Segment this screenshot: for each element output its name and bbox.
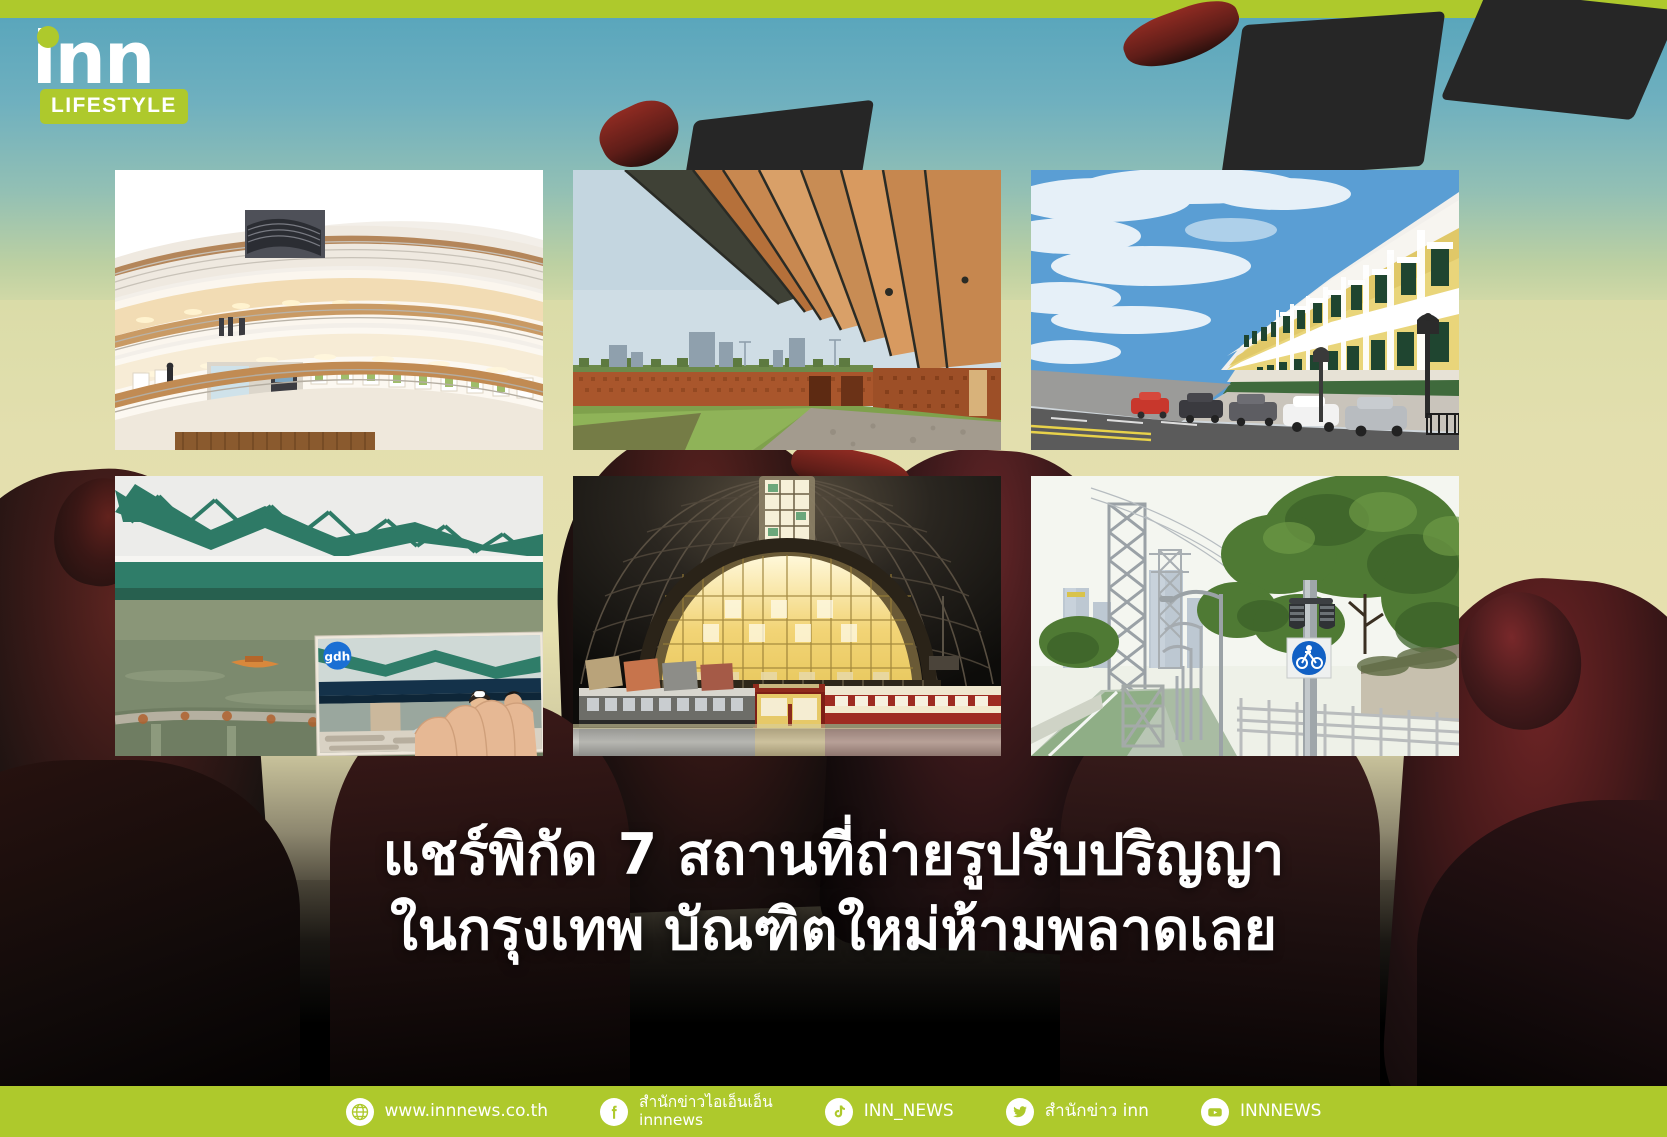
photo-bangkok-art-and-culture-centre[interactable] [115,170,543,450]
footer-item-website[interactable]: www.innnews.co.th [320,1098,575,1126]
footer-item-youtube[interactable]: INNNEWS [1175,1098,1348,1126]
globe-icon [346,1098,374,1126]
svg-text:gdh: gdh [324,649,350,663]
poster-canvas: inn LIFESTYLE [0,0,1667,1137]
photo-memorial-bridge-postcard[interactable]: gdh [115,476,543,756]
logo-wordmark: inn [30,30,165,86]
footer-item-tiktok[interactable]: INN_NEWS [799,1098,980,1126]
page-title: แชร์พิกัด 7 สถานที่ถ่ายรูปรับปริญญา ในกร… [0,818,1667,968]
footer-item-facebook[interactable]: สำนักข่าวไอเอ็นเอ็น innnews [574,1094,799,1129]
photo-bike-lane-green-path[interactable] [1031,476,1459,756]
inn-lifestyle-logo[interactable]: inn LIFESTYLE [30,30,165,124]
footer-label-twitter: สำนักข่าว inn [1045,1102,1149,1122]
youtube-icon [1201,1098,1229,1126]
photo-grid: gdh [115,170,1555,756]
footer-label-facebook: สำนักข่าวไอเอ็นเอ็น innnews [639,1094,773,1129]
photo-hua-lamphong-railway-station[interactable] [573,476,1001,756]
footer-bar: www.innnews.co.th สำนักข่าวไอเอ็นเอ็น in… [0,1086,1667,1137]
facebook-icon [600,1098,628,1126]
photo-modern-architecture-courtyard[interactable] [573,170,1001,450]
footer-label-youtube: INNNEWS [1240,1102,1322,1122]
footer-label-website: www.innnews.co.th [385,1102,549,1122]
headline-line-2: ในกรุงเทพ บัณฑิตใหม่ห้ามพลาดเลย [0,893,1667,968]
green-dot-icon [37,26,59,48]
twitter-icon [1006,1098,1034,1126]
headline-line-1: แชร์พิกัด 7 สถานที่ถ่ายรูปรับปริญญา [0,818,1667,893]
photo-ministry-of-defence-building[interactable] [1031,170,1459,450]
tiktok-icon [825,1098,853,1126]
footer-label-tiktok: INN_NEWS [864,1102,954,1122]
footer-item-twitter[interactable]: สำนักข่าว inn [980,1098,1175,1126]
